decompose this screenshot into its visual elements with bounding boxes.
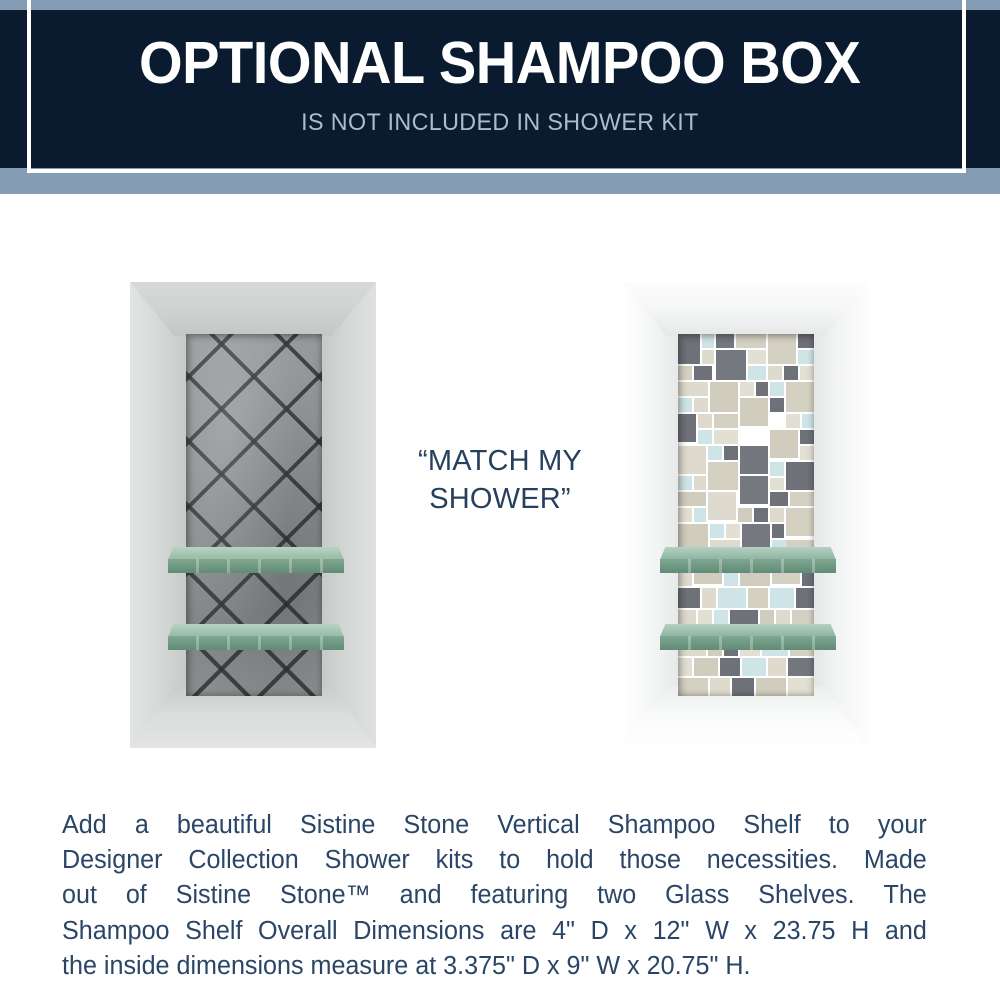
- mosaic-tile: [694, 476, 706, 490]
- mosaic-tile: [678, 508, 692, 522]
- mosaic-tile: [798, 350, 814, 364]
- mosaic-tile: [784, 366, 798, 380]
- mosaic-tile: [702, 350, 714, 364]
- mosaic-tile: [710, 678, 730, 696]
- mosaic-tile: [742, 658, 766, 676]
- mosaic-tile: [788, 658, 814, 676]
- shelf-front-edge: [168, 559, 344, 573]
- mosaic-tile: [790, 492, 814, 506]
- description-line: out of Sistine Stone™ and featuring two …: [62, 878, 927, 913]
- mosaic-tile: [760, 610, 774, 624]
- mosaic-tile: [714, 610, 728, 624]
- niche-bevel-left: [130, 282, 186, 748]
- mosaic-tile: [770, 382, 784, 396]
- glass-shelf-upper: [168, 547, 344, 573]
- mosaic-tile: [740, 398, 768, 426]
- mosaic-tile: [678, 476, 692, 490]
- mosaic-tile: [678, 446, 706, 474]
- shampoo-niche-match-my-shower: [622, 282, 868, 748]
- page-subtitle: IS NOT INCLUDED IN SHOWER KIT: [301, 111, 699, 135]
- shelf-front-edge: [168, 636, 344, 650]
- niche-bevel-left: [622, 282, 678, 748]
- mosaic-tile: [708, 462, 738, 490]
- mosaic-tile: [786, 414, 800, 428]
- mosaic-tile: [770, 588, 794, 608]
- mosaic-tile: [770, 430, 798, 458]
- mosaic-tile: [720, 658, 740, 676]
- mosaic-tile: [714, 430, 738, 444]
- mosaic-tile: [710, 382, 738, 412]
- banner-text-group: OPTIONAL SHAMPOO BOX IS NOT INCLUDED IN …: [0, 0, 1000, 168]
- description-line: the inside dimensions measure at 3.375" …: [62, 949, 927, 984]
- mosaic-tile: [678, 414, 696, 442]
- caption-line-2: SHOWER”: [380, 481, 620, 519]
- mosaic-tile: [736, 334, 766, 348]
- mosaic-tile: [772, 524, 784, 538]
- mosaic-tile: [802, 572, 814, 586]
- mosaic-tile: [694, 366, 712, 380]
- shelf-front-edge: [660, 559, 836, 573]
- mosaic-tile: [740, 572, 770, 586]
- mosaic-tile: [714, 414, 738, 428]
- mosaic-tile: [694, 508, 706, 522]
- mosaic-tile: [770, 398, 784, 412]
- mosaic-tile: [788, 678, 814, 696]
- mosaic-tile: [770, 492, 788, 506]
- niche-bevel-right: [814, 282, 868, 748]
- mosaic-tile: [694, 398, 708, 412]
- product-description: Add a beautiful Sistine Stone Vertical S…: [62, 808, 927, 984]
- mosaic-tile: [710, 524, 724, 538]
- mosaic-tile: [708, 446, 722, 460]
- description-line: Designer Collection Shower kits to hold …: [62, 843, 927, 878]
- mosaic-tile: [800, 366, 814, 380]
- mosaic-tile: [748, 350, 766, 364]
- mosaic-tile: [756, 382, 768, 396]
- mosaic-tile: [724, 572, 738, 586]
- mosaic-tile: [678, 334, 700, 364]
- mosaic-tile: [678, 492, 706, 506]
- match-my-shower-caption: “MATCH MY SHOWER”: [380, 443, 620, 518]
- mosaic-tile: [678, 366, 692, 380]
- shelf-front-edge: [660, 636, 836, 650]
- mosaic-tile: [708, 492, 736, 520]
- description-line: Add a beautiful Sistine Stone Vertical S…: [62, 808, 927, 843]
- mosaic-tile: [694, 658, 718, 676]
- mosaic-tile: [800, 430, 814, 444]
- mosaic-tile: [786, 462, 814, 490]
- mosaic-tile: [698, 430, 712, 444]
- mosaic-tile: [716, 334, 734, 348]
- mosaic-tile: [770, 508, 784, 522]
- mosaic-tile: [786, 382, 814, 412]
- mosaic-tile: [726, 524, 740, 538]
- mosaic-tile: [724, 446, 738, 460]
- glass-shelf-upper: [660, 547, 836, 573]
- mosaic-tile: [718, 588, 746, 608]
- mosaic-tile: [678, 398, 692, 412]
- mosaic-tile: [802, 414, 814, 428]
- mosaic-tile: [800, 446, 814, 460]
- mosaic-tile: [678, 572, 692, 586]
- mosaic-tile: [738, 508, 752, 522]
- mosaic-tile: [716, 350, 746, 380]
- mosaic-tile: [740, 382, 754, 396]
- mosaic-tile: [698, 610, 712, 624]
- mosaic-tile: [678, 610, 696, 624]
- shampoo-niche-standard: [130, 282, 376, 748]
- mosaic-tile: [678, 382, 708, 396]
- mosaic-tile: [798, 334, 814, 348]
- mosaic-tile: [754, 508, 768, 522]
- mosaic-tile: [678, 678, 708, 696]
- page-title: OPTIONAL SHAMPOO BOX: [139, 34, 860, 93]
- mosaic-tile: [748, 588, 768, 608]
- caption-line-1: “MATCH MY: [380, 443, 620, 481]
- mosaic-tile: [786, 508, 814, 536]
- mosaic-tile: [702, 334, 714, 348]
- mosaic-tile: [770, 462, 784, 476]
- mosaic-tile: [768, 658, 786, 676]
- mosaic-tile: [740, 446, 768, 474]
- mosaic-tile: [756, 678, 786, 696]
- glass-shelf-lower: [168, 624, 344, 650]
- mosaic-tile: [776, 610, 790, 624]
- mosaic-tile: [678, 658, 692, 676]
- description-line: Shampoo Shelf Overall Dimensions are 4" …: [62, 914, 927, 949]
- mosaic-tile: [768, 366, 782, 380]
- niche-bevel-right: [322, 282, 376, 748]
- mosaic-tile: [770, 478, 784, 490]
- header-banner: OPTIONAL SHAMPOO BOX IS NOT INCLUDED IN …: [0, 0, 1000, 194]
- mosaic-tile: [796, 588, 814, 608]
- mosaic-tile: [732, 678, 754, 696]
- glass-shelf-lower: [660, 624, 836, 650]
- mosaic-tile: [748, 366, 766, 380]
- mosaic-tile: [698, 414, 712, 428]
- mosaic-tile: [702, 588, 716, 608]
- mosaic-tile: [768, 334, 796, 364]
- mosaic-tile: [740, 476, 768, 504]
- mosaic-tile: [678, 588, 700, 608]
